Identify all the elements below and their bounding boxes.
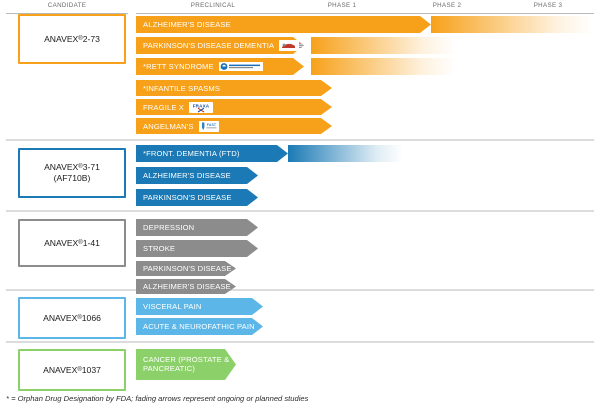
column-header-preclinical: PRECLINICAL <box>191 2 235 9</box>
column-header-candidate: CANDIDATE <box>48 2 86 9</box>
indication-label: ALZHEIMER'S DISEASE <box>143 171 231 180</box>
column-header-phase-2: PHASE 2 <box>433 2 462 9</box>
candidate-subcode: (AF710B) <box>54 173 91 183</box>
candidate-code: 1-41 <box>83 238 100 248</box>
indication-row: ACUTE & NEUROFATHIC PAIN <box>136 318 594 335</box>
indication-arrow-fade <box>288 145 403 162</box>
candidate-label: ANAVEX®1066 <box>43 313 101 324</box>
indication-arrow[interactable]: ALZHEIMER'S DISEASE <box>136 16 431 33</box>
rett-syndrome-org-logo-icon <box>219 62 263 71</box>
indication-arrow[interactable]: ALZHEIMER'S DISEASE <box>136 279 236 294</box>
candidate-code: 2-73 <box>83 34 100 44</box>
indication-row: PARKINSON'S DISEASE <box>136 189 594 206</box>
indication-row: STROKE <box>136 240 594 257</box>
indication-row: FRAGILE XFRAXA <box>136 99 594 115</box>
indication-row: *RETT SYNDROME <box>136 58 594 75</box>
group-separator <box>6 210 594 212</box>
pipeline-chart: CANDIDATEPRECLINICALPHASE 1PHASE 2PHASE … <box>0 0 600 411</box>
candidate-name: ANAVEX <box>43 313 77 323</box>
column-headers: CANDIDATEPRECLINICALPHASE 1PHASE 2PHASE … <box>0 0 600 14</box>
candidate-name: ANAVEX <box>44 162 78 172</box>
indication-arrow[interactable]: PARKINSON'S DISEASE <box>136 261 236 276</box>
indication-arrow-fade <box>311 37 456 54</box>
footnote: * = Orphan Drug Designation by FDA; fadi… <box>6 394 308 403</box>
indication-label: PARKINSON'S DISEASE <box>143 264 232 273</box>
candidate-name: ANAVEX <box>44 238 78 248</box>
fraxa-research-foundation-logo-icon: FRAXA <box>189 102 213 113</box>
candidate-label: ANAVEX®1-41 <box>44 238 100 249</box>
indication-label: FRAGILE X <box>143 103 184 112</box>
indication-arrow[interactable]: *FRONT. DEMENTIA (FTD) <box>136 145 288 162</box>
column-header-phase-1: PHASE 1 <box>328 2 357 9</box>
fast-angelman-logo-icon: FAST <box>199 121 219 132</box>
indication-row: CANCER (PROSTATE & PANCREATIC) <box>136 349 594 380</box>
indication-arrow[interactable]: CANCER (PROSTATE & PANCREATIC) <box>136 349 236 380</box>
indication-row: PARKINSON'S DISEASE <box>136 261 594 276</box>
indication-label: ANGELMAN'S <box>143 122 194 131</box>
candidate-name: ANAVEX <box>44 34 78 44</box>
candidate-label: ANAVEX®1037 <box>43 365 101 376</box>
candidate-name: ANAVEX <box>43 365 77 375</box>
candidate-label: ANAVEX®3-71(AF710B) <box>44 162 100 183</box>
indication-label: ACUTE & NEUROFATHIC PAIN <box>143 322 255 331</box>
indication-arrow[interactable]: VISCERAL PAIN <box>136 298 263 315</box>
group-separator <box>6 139 594 141</box>
indication-row: ANGELMAN'SFAST <box>136 118 594 134</box>
svg-text:FAST: FAST <box>207 123 217 127</box>
indication-arrow[interactable]: *INFANTILE SPASMS <box>136 80 332 96</box>
indication-label: ALZHEIMER'S DISEASE <box>143 20 231 29</box>
indication-label: PARKINSON'S DISEASE DEMENTIA <box>143 41 274 50</box>
group-separator <box>6 341 594 343</box>
candidate-box-anavex-1066[interactable]: ANAVEX®1066 <box>18 297 126 339</box>
indication-row: ALZHEIMER'S DISEASE <box>136 279 594 294</box>
indication-arrow[interactable]: ALZHEIMER'S DISEASE <box>136 167 258 184</box>
indication-arrow-fade <box>431 16 594 33</box>
indication-label: DEPRESSION <box>143 223 194 232</box>
indication-row: ALZHEIMER'S DISEASE <box>136 167 594 184</box>
indication-label: *FRONT. DEMENTIA (FTD) <box>143 149 240 158</box>
indication-label: STROKE <box>143 244 175 253</box>
header-rule-phases <box>136 13 594 14</box>
indication-arrow-fade <box>311 58 456 75</box>
indication-label: VISCERAL PAIN <box>143 302 202 311</box>
indication-label: *INFANTILE SPASMS <box>143 84 220 93</box>
candidate-box-anavex-2-73[interactable]: ANAVEX®2-73 <box>18 14 126 64</box>
indication-row: PARKINSON'S DISEASE DEMENTIA <box>136 37 594 54</box>
candidate-box-anavex-1-41[interactable]: ANAVEX®1-41 <box>18 219 126 267</box>
indication-row: VISCERAL PAIN <box>136 298 594 315</box>
indication-arrow[interactable]: STROKE <box>136 240 258 257</box>
svg-text:FRAXA: FRAXA <box>193 103 210 108</box>
indication-arrow[interactable]: PARKINSON'S DISEASE <box>136 189 258 206</box>
candidate-label: ANAVEX®2-73 <box>44 34 100 45</box>
indication-row: ALZHEIMER'S DISEASE <box>136 16 594 33</box>
candidate-box-anavex-1037[interactable]: ANAVEX®1037 <box>18 349 126 391</box>
indication-arrow[interactable]: FRAGILE XFRAXA <box>136 99 332 115</box>
candidate-code: 1037 <box>82 365 101 375</box>
column-header-phase-3: PHASE 3 <box>534 2 563 9</box>
indication-arrow[interactable]: DEPRESSION <box>136 219 258 236</box>
indication-label: *RETT SYNDROME <box>143 62 214 71</box>
candidate-code: 3-71 <box>83 162 100 172</box>
indication-label: ALZHEIMER'S DISEASE <box>143 282 231 291</box>
candidate-code: 1066 <box>82 313 101 323</box>
indication-row: DEPRESSION <box>136 219 594 236</box>
indication-arrow[interactable]: PARKINSON'S DISEASE DEMENTIA <box>136 37 304 54</box>
indication-row: *FRONT. DEMENTIA (FTD) <box>136 145 594 162</box>
indication-label: CANCER (PROSTATE & PANCREATIC) <box>143 356 236 374</box>
indication-arrow[interactable]: *RETT SYNDROME <box>136 58 304 75</box>
indication-row: *INFANTILE SPASMS <box>136 80 594 96</box>
indication-arrow[interactable]: ANGELMAN'SFAST <box>136 118 332 134</box>
indication-arrow[interactable]: ACUTE & NEUROFATHIC PAIN <box>136 318 263 335</box>
indication-label: PARKINSON'S DISEASE <box>143 193 232 202</box>
candidate-box-anavex-3-71[interactable]: ANAVEX®3-71(AF710B) <box>18 148 126 198</box>
